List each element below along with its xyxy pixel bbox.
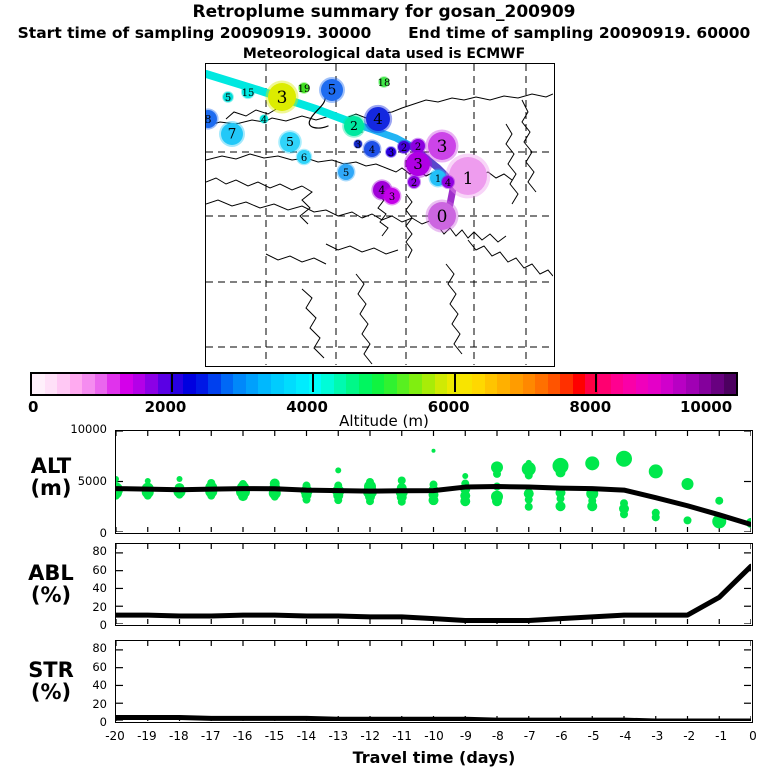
y-tick-label: 20 (55, 600, 107, 614)
colorbar-swatch (145, 374, 158, 394)
y-tick-label: 0 (55, 715, 107, 729)
x-tick-label: -16 (226, 729, 260, 743)
x-tick-label: -5 (577, 729, 611, 743)
alt-scatter-dot (715, 497, 723, 505)
colorbar-swatch (573, 374, 586, 394)
colorbar-swatch (661, 374, 674, 394)
x-tick-label: -19 (130, 729, 164, 743)
x-tick-label: -20 (98, 729, 132, 743)
particle-label: 5 (343, 168, 349, 179)
alt-scatter-dot (493, 470, 501, 478)
colorbar-swatch (384, 374, 397, 394)
alt-scatter-dot (525, 503, 533, 511)
alt-plot-area (116, 431, 751, 532)
y-tick-label: 60 (55, 660, 107, 674)
colorbar-swatch (32, 374, 45, 394)
y-tick-label: 80 (55, 544, 107, 558)
x-tick-label: -18 (162, 729, 196, 743)
particle-label: 6 (301, 153, 307, 164)
colorbar-swatch (95, 374, 108, 394)
particle-label: 1 (435, 174, 441, 185)
y-tick-label: 60 (55, 563, 107, 577)
colorbar-swatch (158, 374, 171, 394)
particle-label: 4 (445, 178, 451, 189)
colorbar-swatch (321, 374, 334, 394)
y-tick-label: 40 (55, 581, 107, 595)
particle-label: 2 (411, 178, 417, 189)
colorbar-swatch (435, 374, 448, 394)
colorbar-swatch (70, 374, 83, 394)
alt-scatter-dot (177, 476, 183, 482)
colorbar-swatch (82, 374, 95, 394)
x-axis-title: Travel time (days) (115, 748, 753, 767)
colorbar-swatch (460, 374, 473, 394)
colorbar-swatch (397, 374, 410, 394)
colorbar-title: Altitude (m) (0, 412, 768, 430)
colorbar-swatch (535, 374, 548, 394)
x-tick-label: -2 (672, 729, 706, 743)
y-tick-label: 80 (55, 641, 107, 655)
colorbar-swatch (183, 374, 196, 394)
colorbar-swatch (208, 374, 221, 394)
x-tick-label: -3 (640, 729, 674, 743)
colorbar-swatch (221, 374, 234, 394)
alt-scatter-dot (238, 491, 248, 501)
abl-plot-area (116, 544, 751, 624)
particle-label: 3 (277, 88, 288, 108)
y-tick-label: 20 (55, 697, 107, 711)
colorbar-swatch (258, 374, 271, 394)
particle-label: 5 (286, 134, 294, 149)
particle-label: 0 (437, 207, 448, 227)
str-chart-panel[interactable] (115, 640, 753, 723)
alt-scatter-dot (366, 497, 374, 505)
colorbar-separator (171, 372, 173, 392)
y-tick-label: 10000 (55, 422, 107, 436)
colorbar-swatch (196, 374, 209, 394)
altitude-colorbar (30, 372, 738, 396)
alt-scatter-dot (556, 467, 566, 477)
x-tick-label: 0 (736, 729, 768, 743)
alt-scatter-dot (587, 501, 597, 511)
alt-scatter-dot (492, 496, 502, 506)
end-time-label: End time of sampling 20090919. 60000 (408, 24, 750, 42)
x-tick-label: -9 (449, 729, 483, 743)
alt-scatter-dot (682, 478, 694, 490)
particle-label: 2 (350, 118, 358, 133)
met-data-label: Meteorological data used is ECMWF (0, 46, 768, 62)
particle-label: 4 (261, 115, 267, 126)
particle-label: 8 (206, 113, 212, 126)
colorbar-swatch (711, 374, 724, 394)
particle-label: 18 (378, 78, 391, 89)
particle-label: 3 (413, 155, 423, 173)
colorbar-swatch (309, 374, 322, 394)
colorbar-swatch (673, 374, 686, 394)
alt-scatter-dot (398, 498, 406, 506)
x-tick-label: -10 (417, 729, 451, 743)
colorbar-swatch (133, 374, 146, 394)
colorbar-swatch (284, 374, 297, 394)
alt-scatter-dot (525, 471, 533, 479)
colorbar-swatch (548, 374, 561, 394)
particle-label: 2 (401, 143, 407, 154)
alt-scatter-dot (462, 473, 468, 479)
alt-scatter-dot (429, 495, 439, 505)
alt-chart-panel[interactable] (115, 430, 753, 534)
colorbar-swatch (560, 374, 573, 394)
x-tick-label: -1 (704, 729, 738, 743)
alt-scatter-dot (303, 496, 311, 504)
abl-line (116, 566, 751, 620)
map-canvas: 5151931858756424534322331214430 (206, 64, 553, 365)
colorbar-swatch (334, 374, 347, 394)
colorbar-separator (595, 372, 597, 392)
colorbar-swatch (409, 374, 422, 394)
colorbar-swatch (485, 374, 498, 394)
start-time-label: Start time of sampling 20090919. 30000 (18, 24, 372, 42)
colorbar-swatch (57, 374, 70, 394)
alt-scatter-dot (432, 449, 436, 453)
colorbar-swatch (623, 374, 636, 394)
colorbar-swatch (598, 374, 611, 394)
colorbar-swatch (611, 374, 624, 394)
colorbar-swatch (636, 374, 649, 394)
colorbar-swatch (107, 374, 120, 394)
colorbar-separator (454, 372, 456, 392)
colorbar-swatch (120, 374, 133, 394)
retroplume-map[interactable]: 5151931858756424534322331214430 (205, 63, 555, 367)
colorbar-swatch (271, 374, 284, 394)
alt-scatter-dot (334, 496, 342, 504)
colorbar-swatch (699, 374, 712, 394)
colorbar-swatch (510, 374, 523, 394)
particle-label: 5 (328, 83, 337, 99)
y-tick-label: 40 (55, 678, 107, 692)
particle-label: 19 (298, 84, 311, 95)
colorbar-swatch (233, 374, 246, 394)
alt-scatter-dot (620, 510, 628, 518)
alt-scatter-dot (684, 516, 692, 524)
alt-scatter-dot (460, 496, 470, 506)
x-tick-label: -17 (194, 729, 228, 743)
colorbar-swatch (246, 374, 259, 394)
y-tick-label: 0 (55, 618, 107, 632)
particle-label: 3 (355, 140, 361, 151)
alt-scatter-dot (271, 493, 279, 501)
y-tick-label: 0 (55, 526, 107, 540)
colorbar-swatch (296, 374, 309, 394)
alt-scatter-dot (652, 513, 660, 521)
alt-scatter-dot (207, 492, 215, 500)
particle-label: 5 (225, 93, 231, 104)
colorbar-swatch (45, 374, 58, 394)
colorbar-swatch (359, 374, 372, 394)
colorbar-swatch (472, 374, 485, 394)
colorbar-swatch (523, 374, 536, 394)
alt-scatter-dot (335, 467, 341, 473)
alt-scatter-dot (144, 492, 152, 500)
sampling-time-line: Start time of sampling 20090919. 30000 E… (0, 24, 768, 42)
colorbar-swatch (686, 374, 699, 394)
x-tick-label: -6 (545, 729, 579, 743)
page-title: Retroplume summary for gosan_200909 (0, 2, 768, 22)
x-tick-label: -15 (258, 729, 292, 743)
x-tick-label: -4 (608, 729, 642, 743)
particle-label: 3 (388, 148, 394, 159)
particle-label: 15 (242, 88, 255, 99)
particle-label: 3 (437, 137, 448, 157)
x-tick-label: -11 (385, 729, 419, 743)
str-plot-area (116, 641, 751, 721)
particle-label: 4 (369, 145, 375, 156)
y-tick-label: 5000 (55, 474, 107, 488)
particle-label: 1 (463, 169, 474, 189)
alt-scatter-dot (585, 456, 599, 470)
colorbar-swatch (724, 374, 737, 394)
colorbar-separator (312, 372, 314, 392)
x-tick-label: -13 (321, 729, 355, 743)
alt-scatter-dot (649, 464, 663, 478)
alt-scatter-dot (556, 501, 566, 511)
x-tick-label: -12 (353, 729, 387, 743)
colorbar-swatch (372, 374, 385, 394)
particle-label: 7 (228, 127, 237, 143)
colorbar-swatch (422, 374, 435, 394)
x-tick-label: -14 (289, 729, 323, 743)
colorbar-swatch (648, 374, 661, 394)
colorbar-swatch (497, 374, 510, 394)
alt-scatter-dot (616, 451, 632, 467)
particle-label: 4 (373, 110, 383, 128)
x-tick-label: -8 (481, 729, 515, 743)
colorbar-swatch (346, 374, 359, 394)
abl-chart-panel[interactable] (115, 543, 753, 626)
x-tick-label: -7 (513, 729, 547, 743)
alt-scatter-dot (525, 496, 533, 504)
particle-label: 3 (389, 192, 395, 203)
